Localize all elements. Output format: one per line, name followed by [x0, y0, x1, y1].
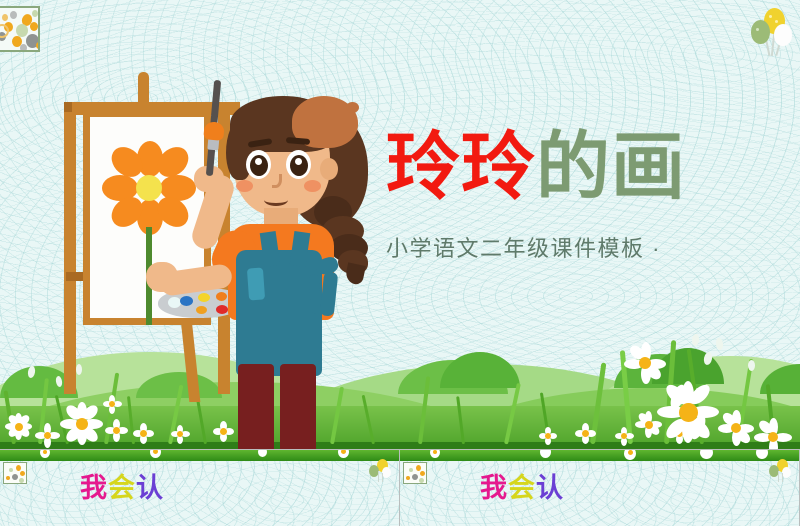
page-title: 玲玲的画 — [386, 125, 786, 209]
thumb-title-char-1: 我 — [80, 473, 108, 503]
balloon-cluster — [748, 6, 794, 56]
thumb-balloon-cluster-1 — [367, 458, 393, 482]
thumb-background-2 — [400, 450, 799, 526]
thumb-grass-2 — [400, 450, 800, 461]
thumbnail-strip: 我会认 — [0, 449, 800, 526]
title-green-part: 的画 — [536, 125, 686, 208]
page-subtitle: 小学语文二年级课件模板 · — [386, 231, 786, 263]
eye-right — [286, 150, 311, 179]
thumb-grass-1 — [0, 450, 400, 461]
floral-confetti-frame — [0, 6, 40, 52]
thumb-balloon-cluster-2 — [767, 458, 793, 482]
main-slide[interactable]: 玲玲的画 小学语文二年级课件模板 · — [0, 0, 800, 449]
thumbnail-slide-1[interactable]: 我会认 — [0, 449, 400, 526]
cheek-left — [236, 180, 253, 192]
title-red-part: 玲玲 — [386, 125, 536, 208]
thumb-title-1: 我会认 — [80, 466, 164, 505]
thumb-title-char-3: 认 — [136, 473, 164, 503]
thumbnail-slide-2[interactable]: 我会认 — [400, 449, 800, 526]
presentation-stage: 玲玲的画 小学语文二年级课件模板 · — [0, 0, 800, 526]
pants-left — [238, 364, 274, 449]
thumb-floral-frame-2 — [403, 462, 427, 484]
paintbrush-tip — [203, 121, 224, 141]
pants-right — [280, 364, 316, 449]
title-block: 玲玲的画 小学语文二年级课件模板 · — [386, 125, 786, 263]
thumb-background-1 — [0, 450, 399, 526]
mouth — [264, 194, 288, 206]
thumb-title-char-3: 认 — [536, 473, 564, 503]
girl-character — [196, 82, 376, 422]
hand-right — [146, 262, 178, 292]
thumb-floral-frame-1 — [3, 462, 27, 484]
balloon-white — [774, 24, 792, 46]
painted-flower — [104, 143, 194, 233]
eye-left — [246, 150, 271, 179]
thumb-title-char-1: 我 — [480, 473, 508, 503]
thumb-title-char-2: 会 — [508, 473, 536, 503]
balloon-green — [751, 20, 770, 44]
thumb-title-2: 我会认 — [480, 466, 564, 505]
cheek-right — [304, 180, 321, 192]
thumb-title-char-2: 会 — [108, 473, 136, 503]
